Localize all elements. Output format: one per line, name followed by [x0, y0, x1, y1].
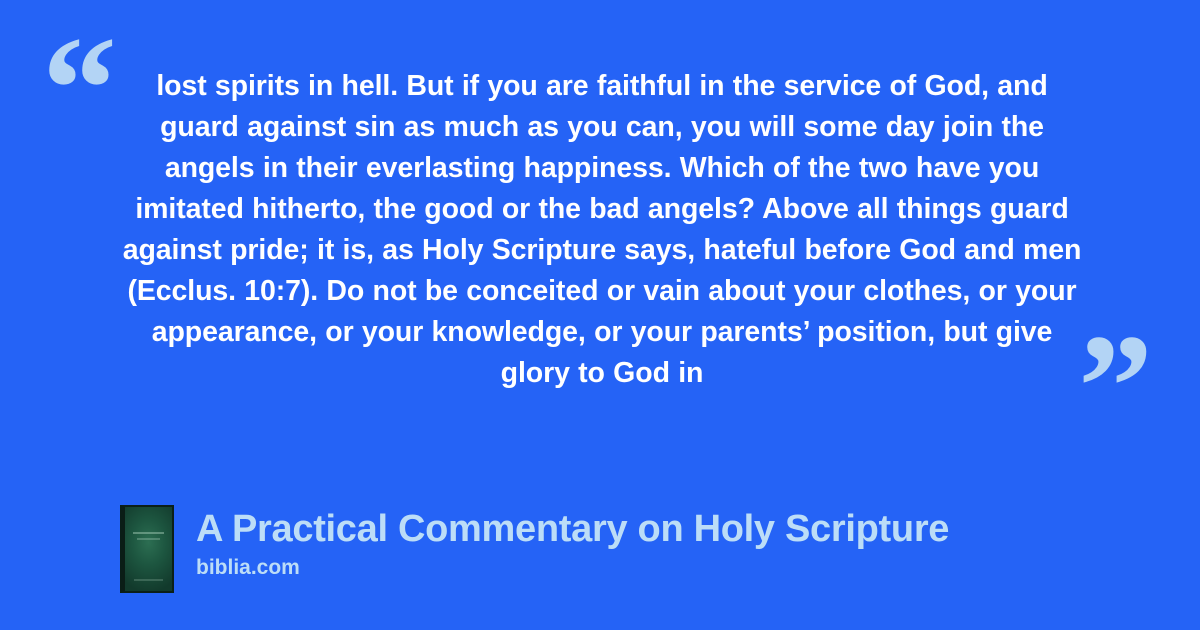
footer: A Practical Commentary on Holy Scripture… — [120, 505, 949, 593]
cover-subtitle-line — [137, 538, 160, 540]
open-quote-icon: “ — [42, 14, 117, 164]
cover-author-line — [134, 579, 162, 581]
footer-text-block: A Practical Commentary on Holy Scripture… — [196, 505, 949, 581]
book-title: A Practical Commentary on Holy Scripture — [196, 507, 949, 551]
quote-text: lost spirits in hell. But if you are fai… — [118, 66, 1086, 394]
book-cover-icon — [120, 505, 174, 593]
site-url: biblia.com — [196, 555, 949, 581]
close-quote-icon: ” — [1078, 312, 1153, 462]
cover-title-line — [133, 532, 163, 534]
quote-card: “ lost spirits in hell. But if you are f… — [0, 0, 1200, 630]
